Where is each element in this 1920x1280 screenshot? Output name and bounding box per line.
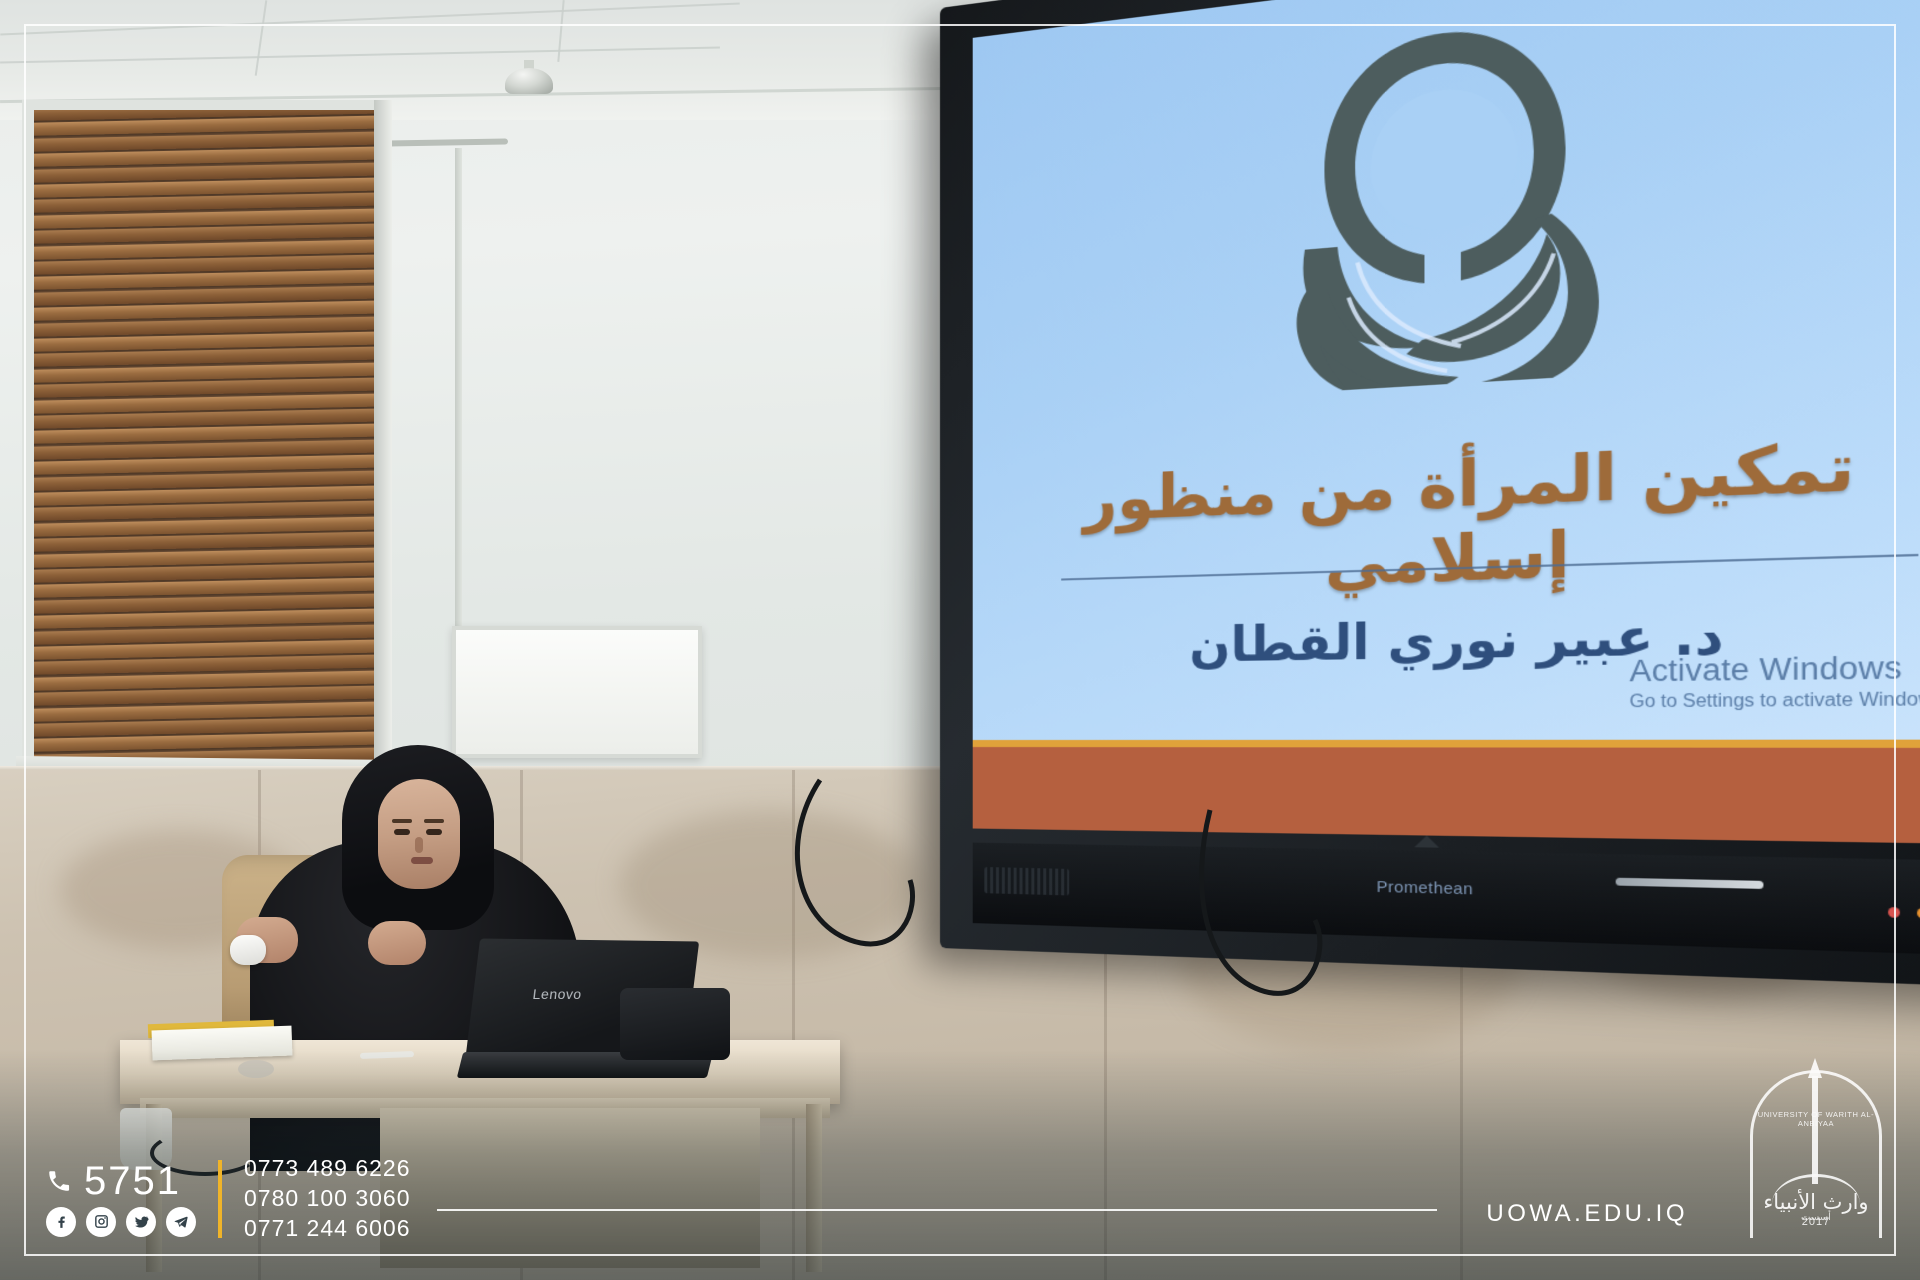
papers <box>152 1026 293 1061</box>
face <box>378 779 460 889</box>
right-hand <box>368 921 426 965</box>
activate-windows-watermark: Activate Windows Go to Settings to activ… <box>1629 650 1920 713</box>
watermark-title: Activate Windows <box>1629 650 1920 689</box>
logo-english-text: UNIVERSITY OF WARITH AL-ANBIYAA <box>1746 1110 1886 1128</box>
slide-title: تمكين المرأة من منظور إسلامي <box>973 420 1920 607</box>
watermark-subtitle: Go to Settings to activate Windows. <box>1629 690 1920 713</box>
tissue <box>230 935 266 965</box>
left-hand <box>236 917 298 963</box>
photo-canvas: تمكين المرأة من منظور إسلامي د. عبير نور… <box>0 0 1920 1280</box>
dome-security-camera-icon <box>505 60 553 94</box>
display-screen[interactable]: تمكين المرأة من منظور إسلامي د. عبير نور… <box>973 0 1920 844</box>
hotline-number: 5751 <box>84 1161 181 1201</box>
facebook-icon[interactable] <box>46 1207 76 1237</box>
veiled-woman-calligraphy-logo <box>1257 1 1644 396</box>
window-with-wooden-blinds <box>22 100 390 770</box>
website-url[interactable]: UOWA.EDU.IQ <box>1486 1200 1688 1228</box>
lenovo-brand-label: Lenovo <box>532 986 583 1002</box>
phone-number-list: 0773 489 6226 0780 100 3060 0771 244 600… <box>244 1155 411 1242</box>
presentation-slide: تمكين المرأة من منظور إسلامي د. عبير نور… <box>973 0 1920 844</box>
phone-number: 0771 244 6006 <box>244 1215 411 1242</box>
contact-footer: 5751 0773 489 6226 0780 100 3060 <box>46 1155 1437 1242</box>
telegram-icon[interactable] <box>166 1207 196 1237</box>
phone-icon <box>46 1168 72 1194</box>
status-led-group <box>1888 907 1920 919</box>
instagram-icon[interactable] <box>86 1207 116 1237</box>
interactive-display[interactable]: تمكين المرأة من منظور إسلامي د. عبير نور… <box>940 0 1920 1070</box>
whiteboard <box>452 626 702 758</box>
logo-year: 2017 <box>1750 1216 1882 1228</box>
status-led-red <box>1888 907 1900 918</box>
footer-divider <box>218 1160 222 1238</box>
phone-number: 0773 489 6226 <box>244 1155 411 1182</box>
computer-mouse[interactable] <box>238 1060 274 1078</box>
university-of-warith-al-anbiya-logo: UNIVERSITY OF WARITH AL-ANBIYAA وارث الأ… <box>1750 1070 1882 1238</box>
twitter-icon[interactable] <box>126 1207 156 1237</box>
display-cables <box>790 770 1550 1070</box>
logo-arabic-text: وارث الأنبياء <box>1750 1190 1882 1214</box>
laptop-bag <box>620 988 730 1060</box>
social-links[interactable] <box>46 1207 196 1237</box>
phone-number: 0780 100 3060 <box>244 1185 411 1212</box>
footer-rule <box>437 1209 1437 1211</box>
